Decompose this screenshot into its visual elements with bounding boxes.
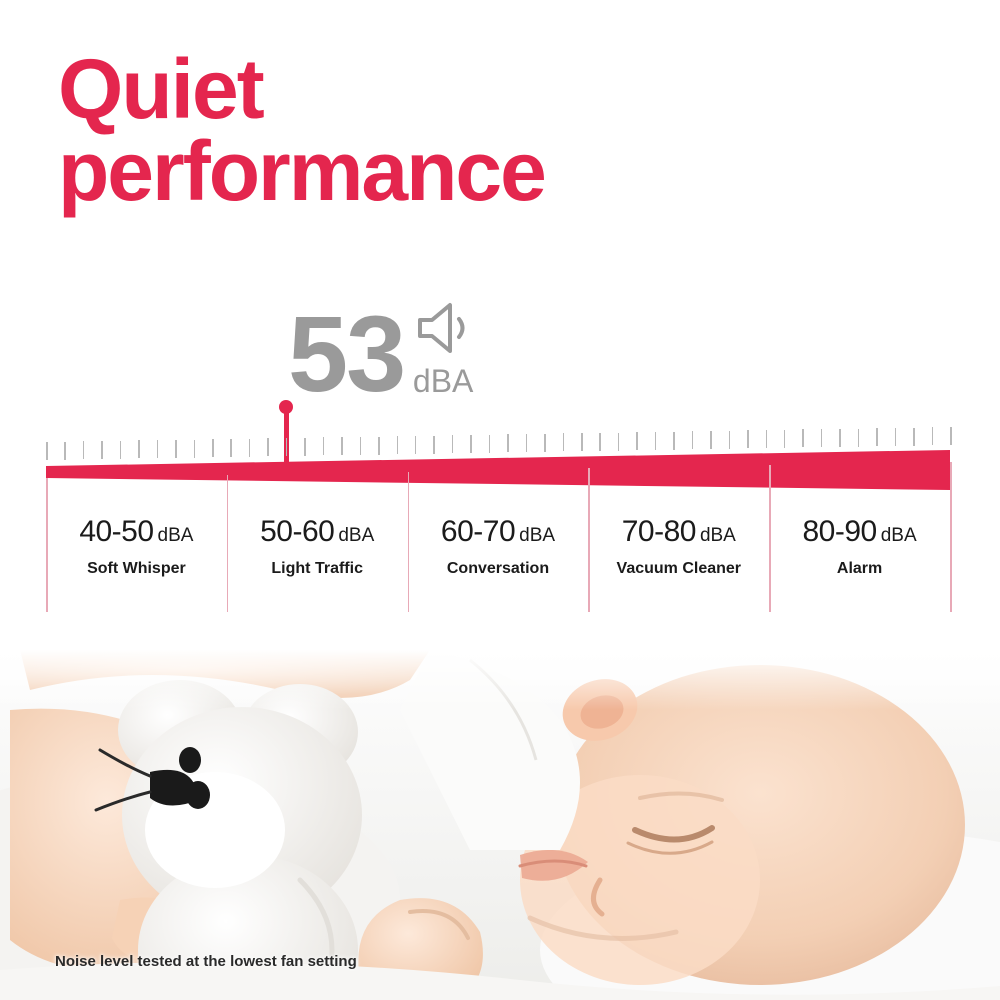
segment-2: 50-60dBALight Traffic <box>227 515 408 595</box>
segment-unit: dBA <box>700 525 736 546</box>
segment-name: Soft Whisper <box>87 560 186 578</box>
segment-range: 40-50dBA <box>79 515 193 549</box>
baby-photo <box>0 650 1000 1000</box>
segment-unit: dBA <box>881 525 917 546</box>
segment-divider <box>950 462 952 612</box>
segment-unit: dBA <box>338 525 374 546</box>
segment-3: 60-70dBAConversation <box>408 515 589 595</box>
segment-unit: dBA <box>158 525 194 546</box>
segment-unit: dBA <box>519 525 555 546</box>
noise-value: 53 <box>288 308 404 401</box>
footnote: Noise level tested at the lowest fan set… <box>55 953 357 970</box>
segment-name: Vacuum Cleaner <box>617 560 742 578</box>
infographic-root: Quiet performance 53 dBA 40-50dBASoft Wh… <box>0 0 1000 1000</box>
page-title: Quiet performance <box>58 48 758 213</box>
segment-4: 70-80dBAVacuum Cleaner <box>588 515 769 595</box>
segment-5: 80-90dBAAlarm <box>769 515 950 595</box>
segment-range: 50-60dBA <box>260 515 374 549</box>
noise-unit-group: dBA <box>412 300 474 401</box>
segment-name: Alarm <box>837 560 882 578</box>
speaker-icon <box>412 300 474 361</box>
noise-unit: dBA <box>413 365 473 397</box>
segment-name: Light Traffic <box>271 560 363 578</box>
segment-range: 70-80dBA <box>622 515 736 549</box>
segment-name: Conversation <box>447 560 549 578</box>
segment-range: 80-90dBA <box>803 515 917 549</box>
segment-range: 60-70dBA <box>441 515 555 549</box>
segment-1: 40-50dBASoft Whisper <box>46 515 227 595</box>
noise-reading: 53 dBA <box>288 300 474 401</box>
segment-labels: 40-50dBASoft Whisper50-60dBALight Traffi… <box>46 515 950 595</box>
